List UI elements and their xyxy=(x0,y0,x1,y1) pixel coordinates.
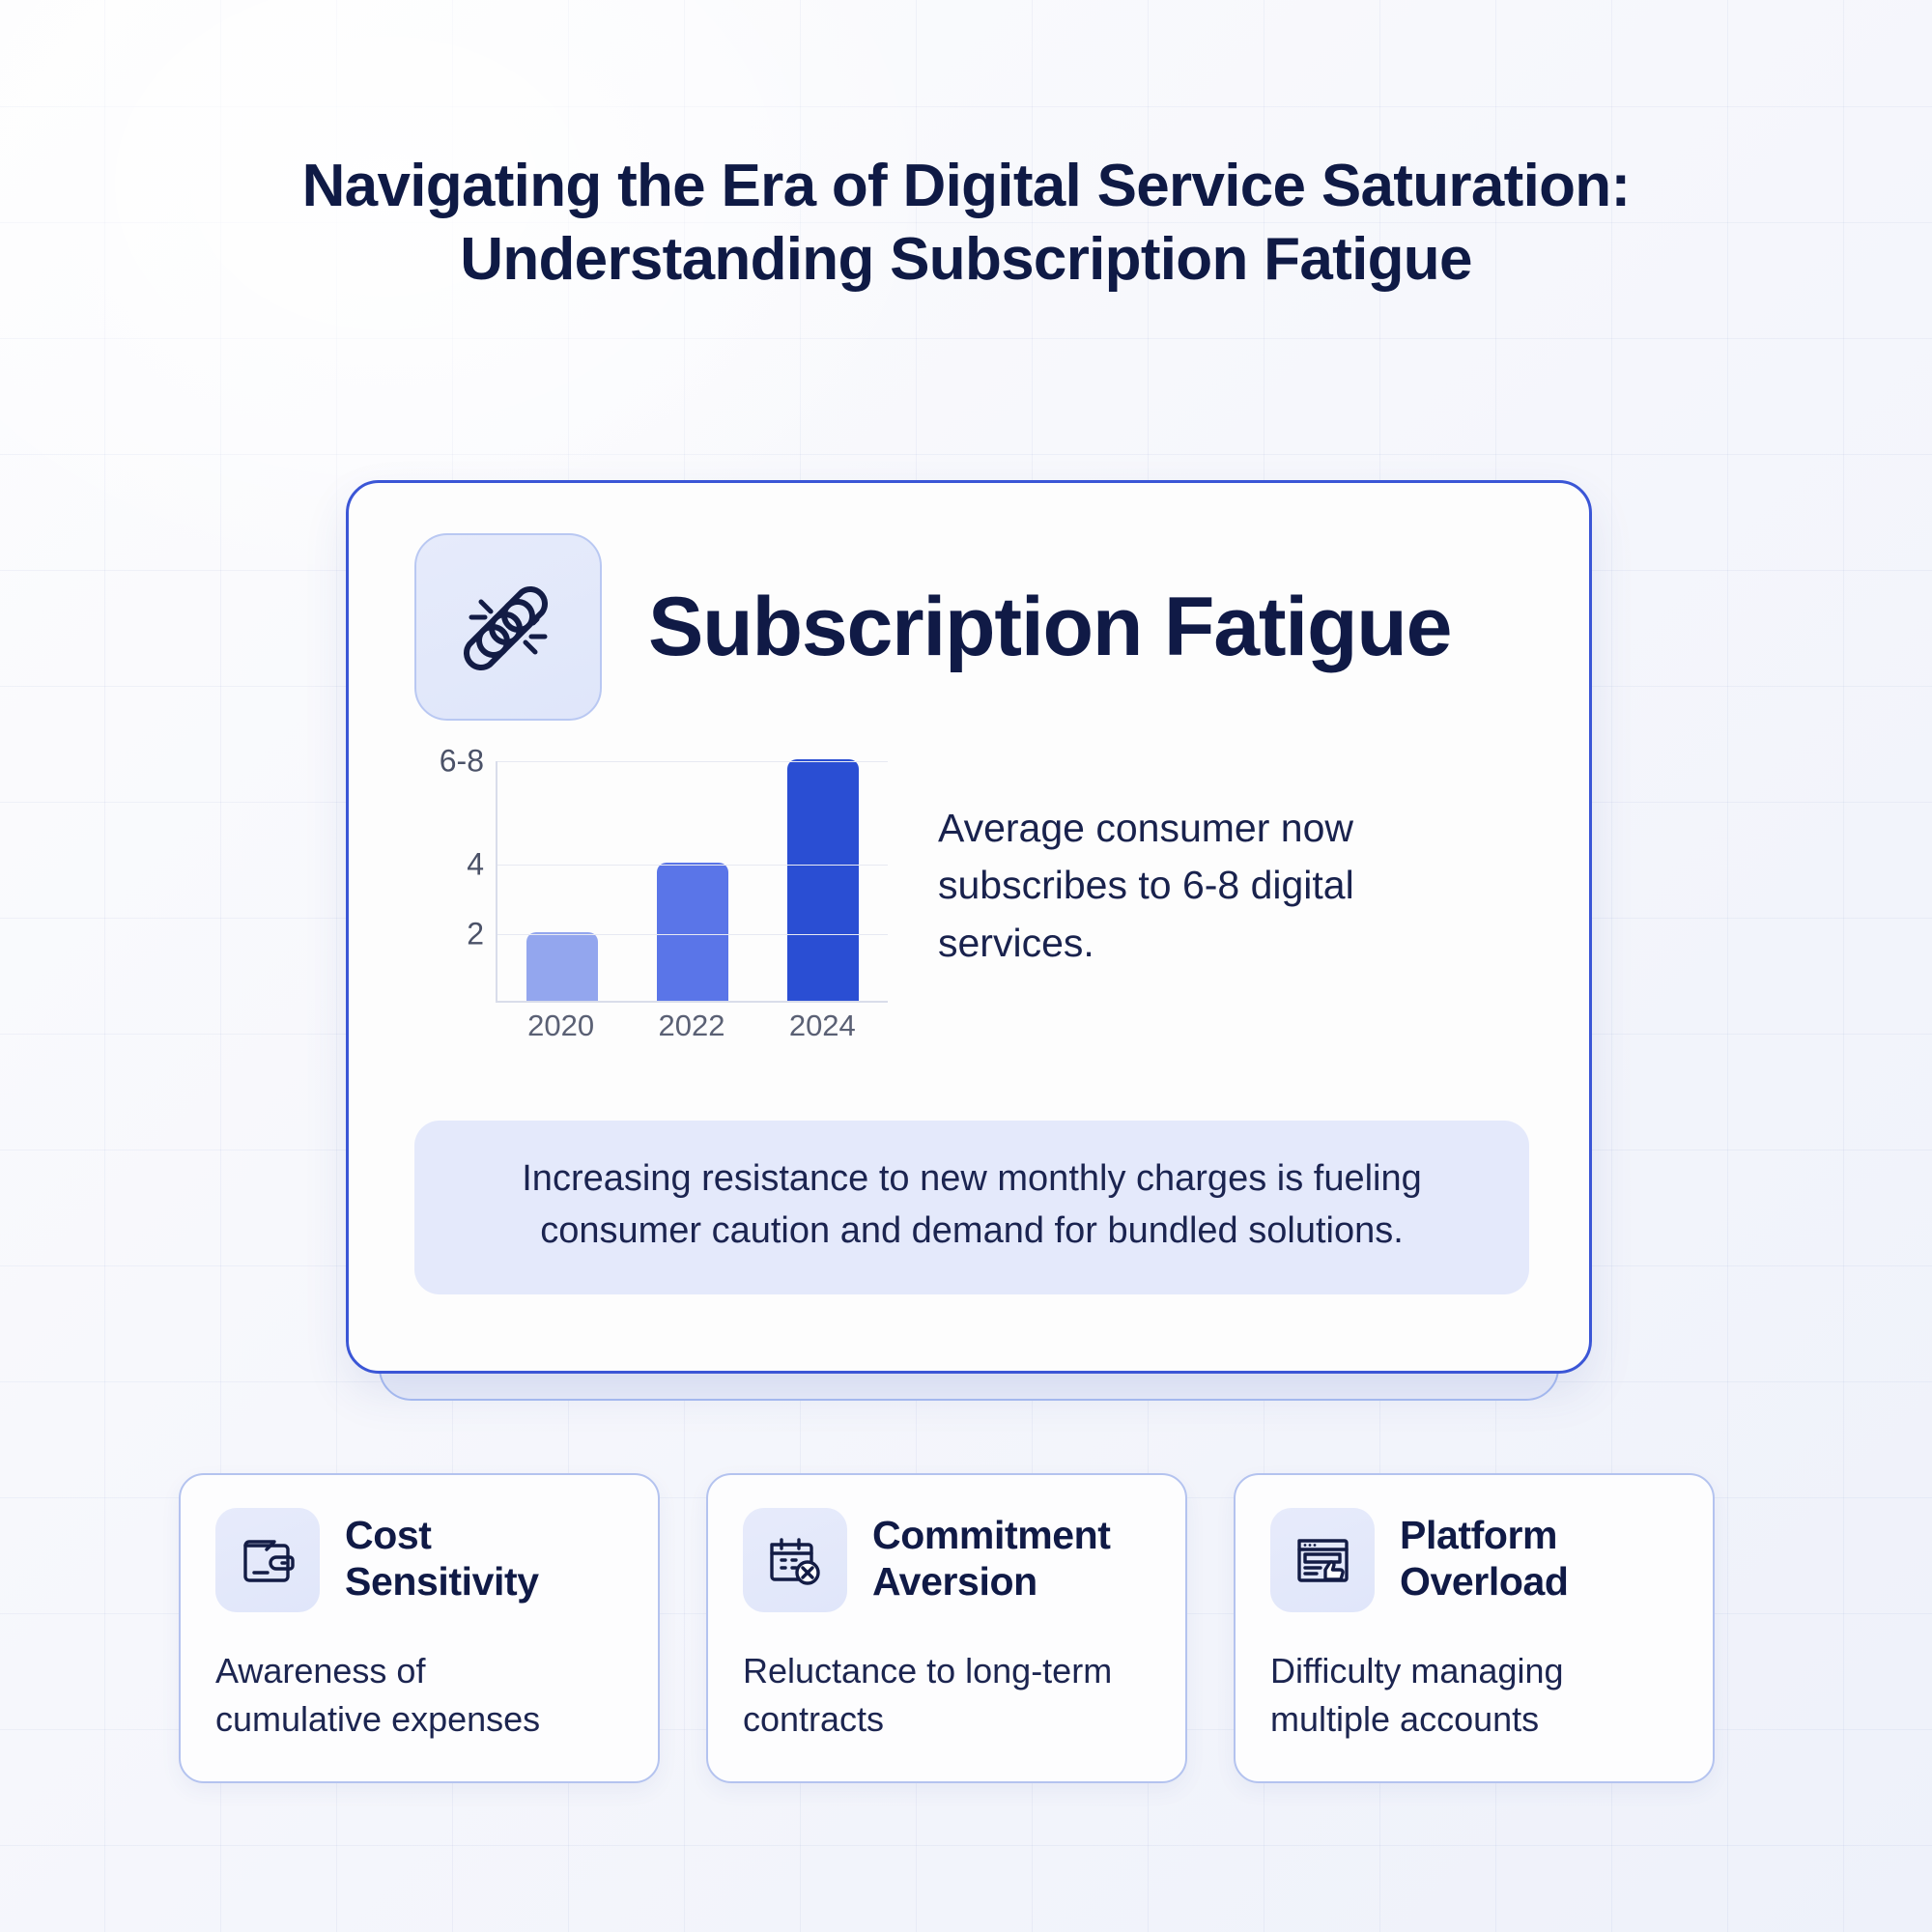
browser-thumbsup-icon xyxy=(1270,1508,1375,1612)
callout-note: Increasing resistance to new monthly cha… xyxy=(414,1121,1529,1294)
y-tick-label: 2 xyxy=(467,916,484,952)
page-title: Navigating the Era of Digital Service Sa… xyxy=(0,150,1932,296)
feature-card-description: Reluctance to long-term contracts xyxy=(743,1647,1151,1743)
feature-card-title: Commitment Aversion xyxy=(872,1508,1111,1605)
infographic-page: Navigating the Era of Digital Service Sa… xyxy=(0,0,1932,1932)
chart-gridline xyxy=(497,865,888,866)
chart-bar xyxy=(657,863,728,1001)
feature-card-description: Difficulty managing multiple accounts xyxy=(1270,1647,1678,1743)
y-tick-label: 6-8 xyxy=(440,744,484,780)
feature-card-header: Cost Sensitivity xyxy=(215,1508,623,1612)
x-tick-label: 2022 xyxy=(639,1009,745,1043)
feature-card-header: Platform Overload xyxy=(1270,1508,1678,1612)
x-tick-label: 2024 xyxy=(769,1009,875,1043)
bar-group xyxy=(497,761,888,1001)
feature-card-header: Commitment Aversion xyxy=(743,1508,1151,1612)
chart-bar xyxy=(787,759,859,1001)
stat-description: Average consumer now subscribes to 6-8 d… xyxy=(938,800,1479,1070)
calendar-x-icon xyxy=(743,1508,847,1612)
wallet-icon xyxy=(215,1508,320,1612)
feature-card[interactable]: Commitment AversionReluctance to long-te… xyxy=(706,1473,1187,1783)
plot-area xyxy=(496,761,888,1003)
x-tick-label: 2020 xyxy=(508,1009,614,1043)
chart-gridline xyxy=(497,934,888,935)
feature-card[interactable]: Cost SensitivityAwareness of cumulative … xyxy=(179,1473,660,1783)
y-axis-labels: 6-842 xyxy=(414,761,496,1003)
feature-card[interactable]: Platform OverloadDifficulty managing mul… xyxy=(1234,1473,1715,1783)
feature-card-description: Awareness of cumulative expenses xyxy=(215,1647,623,1743)
chart-and-stat-row: 6-842 202020222024 Average consumer now … xyxy=(414,761,1529,1070)
chart-bar xyxy=(526,932,598,1001)
feature-cards-row: Cost SensitivityAwareness of cumulative … xyxy=(179,1473,1763,1783)
subscription-fatigue-card: Subscription Fatigue 6-842 202020222024 … xyxy=(346,480,1592,1374)
card-header: Subscription Fatigue xyxy=(414,533,1451,721)
y-tick-label: 4 xyxy=(467,847,484,883)
feature-card-title: Platform Overload xyxy=(1400,1508,1569,1605)
subscriptions-bar-chart: 6-842 202020222024 xyxy=(414,761,888,1070)
main-card-stack: Subscription Fatigue 6-842 202020222024 … xyxy=(346,480,1592,1374)
feature-card-title: Cost Sensitivity xyxy=(345,1508,539,1605)
chart-gridline xyxy=(497,761,888,762)
card-title: Subscription Fatigue xyxy=(648,580,1451,675)
x-axis-labels: 202020222024 xyxy=(496,1009,888,1043)
broken-chain-icon xyxy=(414,533,602,721)
